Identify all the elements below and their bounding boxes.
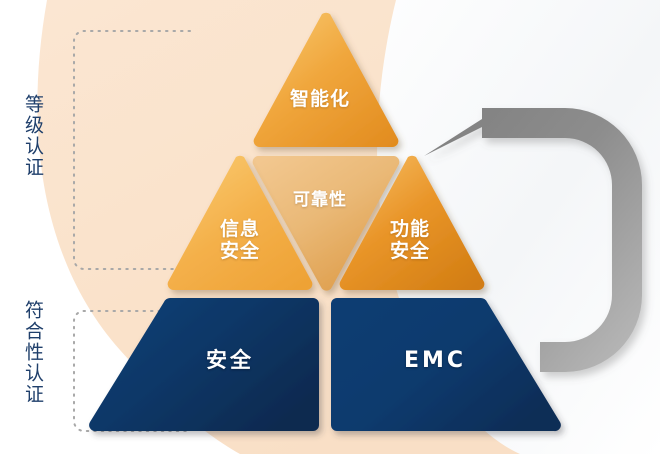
pyramid-label-functional-safety: 功能 安全 — [355, 218, 465, 263]
pyramid-label-emc: EMC — [355, 348, 515, 374]
side-label-compliance-certification: 符合性认证 — [22, 300, 42, 405]
pyramid-label-intelligent: 智能化 — [250, 88, 390, 110]
pyramid-label-information-security: 信息 安全 — [185, 218, 295, 263]
side-label-grade-certification: 等级认证 — [22, 94, 42, 178]
pyramid-cell-intelligent[interactable] — [254, 13, 399, 147]
pyramid-label-reliability: 可靠性 — [265, 190, 375, 210]
pyramid-label-safety: 安全 — [150, 348, 310, 373]
pyramid-layer — [0, 0, 660, 454]
diagram-canvas: 等级认证 符合性认证 智能化 可靠性 信息 安全 功能 安全 安全 EMC — [0, 0, 660, 454]
